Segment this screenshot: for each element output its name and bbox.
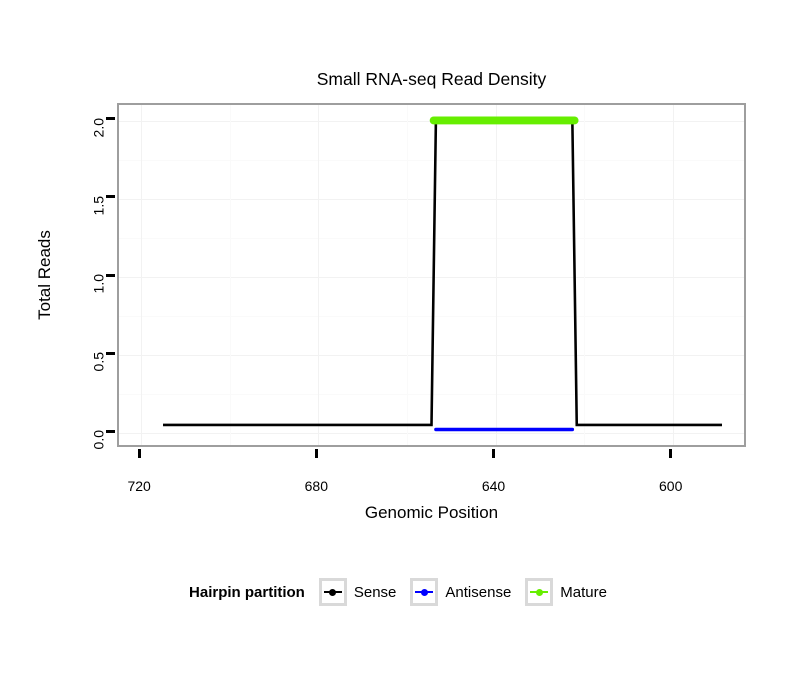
chart-root: Small RNA-seq Read Density 0.00.51.01.52…	[0, 0, 810, 690]
x-tick-mark	[138, 449, 141, 458]
x-tick-mark	[492, 449, 495, 458]
y-axis-title-label: Total Reads	[35, 230, 55, 320]
x-tick-label: 600	[641, 478, 701, 494]
x-axis-title: Genomic Position	[117, 503, 746, 523]
legend-label: Antisense	[445, 584, 511, 601]
y-tick-label: 1.0	[90, 274, 106, 293]
legend-key-dot	[329, 589, 336, 596]
chart-title: Small RNA-seq Read Density	[117, 68, 746, 90]
x-tick-label: 640	[464, 478, 524, 494]
y-tick-mark	[106, 430, 115, 433]
legend-key-dot	[536, 589, 543, 596]
data-series-layer	[119, 105, 744, 445]
y-tick-label: 0.0	[90, 430, 106, 449]
y-tick-mark	[106, 117, 115, 120]
x-tick-mark	[669, 449, 672, 458]
y-axis-title: Total Reads	[33, 0, 57, 550]
y-tick-label: 2.0	[90, 118, 106, 137]
series-line-sense	[163, 120, 722, 424]
legend-key-swatch	[525, 578, 553, 606]
legend-entry-antisense[interactable]: Antisense	[410, 578, 511, 606]
legend: Hairpin partition SenseAntisenseMature	[0, 578, 810, 606]
legend-title: Hairpin partition	[189, 584, 305, 601]
x-tick-mark	[315, 449, 318, 458]
legend-entries: SenseAntisenseMature	[319, 578, 621, 606]
legend-entry-sense[interactable]: Sense	[319, 578, 397, 606]
y-tick-mark	[106, 352, 115, 355]
plot-panel	[117, 103, 746, 447]
y-tick-label: 1.5	[90, 196, 106, 215]
legend-key-swatch	[410, 578, 438, 606]
y-tick-mark	[106, 195, 115, 198]
legend-key-dot	[421, 589, 428, 596]
x-tick-label: 680	[286, 478, 346, 494]
x-tick-label: 720	[109, 478, 169, 494]
legend-key-swatch	[319, 578, 347, 606]
legend-label: Sense	[354, 584, 397, 601]
legend-entry-mature[interactable]: Mature	[525, 578, 607, 606]
y-tick-mark	[106, 274, 115, 277]
legend-label: Mature	[560, 584, 607, 601]
y-tick-label: 0.5	[90, 352, 106, 371]
